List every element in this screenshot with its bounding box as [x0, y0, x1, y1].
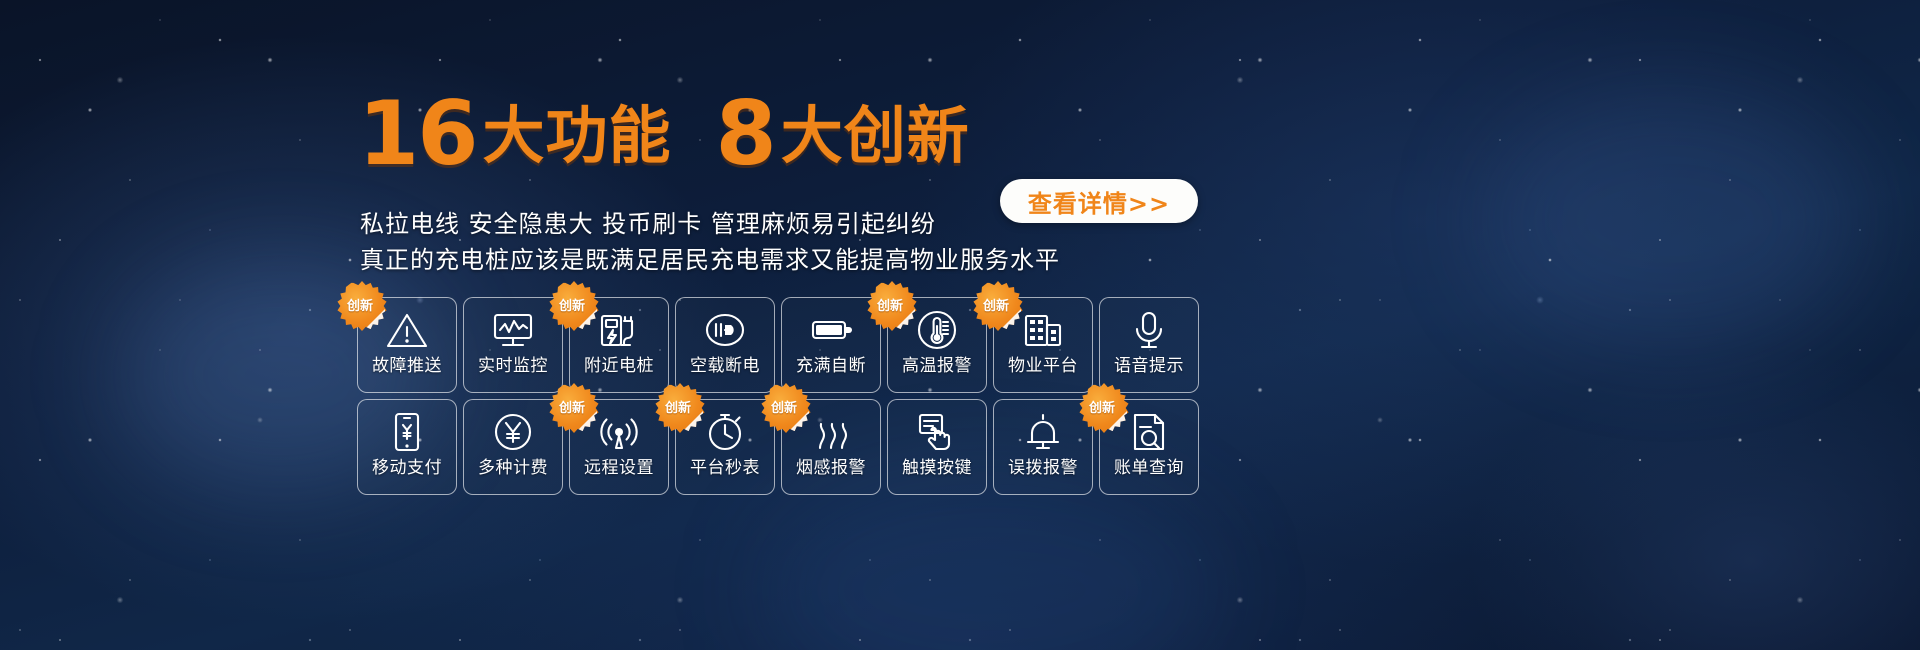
feature-card[interactable]: 移动支付 — [357, 399, 457, 495]
feature-card[interactable]: 触摸按键 — [887, 399, 987, 495]
feature-card-label: 移动支付 — [372, 458, 442, 478]
feature-card-label: 实时监控 — [478, 356, 548, 376]
subtitle-block: 私拉电线 安全隐患大 投币刷卡 管理麻烦易引起纠纷 真正的充电桩应该是既满足居民… — [360, 208, 1060, 280]
feature-card-label: 附近电桩 — [584, 356, 654, 376]
mobile-payment-icon — [384, 409, 430, 455]
innovation-badge-label: 创新 — [1089, 397, 1115, 416]
feature-card-label: 高温报警 — [902, 356, 972, 376]
innovation-badge-label: 创新 — [877, 295, 903, 314]
bill-search-icon — [1126, 409, 1172, 455]
charging-pile-icon — [596, 307, 642, 353]
innovation-badge-label: 创新 — [559, 295, 585, 314]
feature-card-label: 语音提示 — [1114, 356, 1184, 376]
feature-card-grid: 创新故障推送实时监控创新附近电桩空载断电充满自断创新高温报警创新物业平台语音提示… — [357, 297, 1199, 495]
thermometer-icon — [914, 307, 960, 353]
yuan-coin-icon — [490, 409, 536, 455]
feature-card[interactable]: 创新故障推送 — [357, 297, 457, 393]
feature-card[interactable]: 创新物业平台 — [993, 297, 1093, 393]
battery-full-icon — [808, 307, 854, 353]
innovation-badge: 创新 — [337, 281, 387, 331]
warning-triangle-icon — [384, 307, 430, 353]
feature-card-label: 平台秒表 — [690, 458, 760, 478]
headline-number-1: 16 — [358, 92, 476, 176]
nebula-glow-bottom — [760, 470, 1220, 650]
subtitle-line-1: 私拉电线 安全隐患大 投币刷卡 管理麻烦易引起纠纷 — [360, 208, 1060, 240]
microphone-icon — [1126, 307, 1172, 353]
building-icon — [1020, 307, 1066, 353]
feature-card[interactable]: 创新账单查询 — [1099, 399, 1199, 495]
feature-card[interactable]: 创新平台秒表 — [675, 399, 775, 495]
feature-card[interactable]: 创新烟感报警 — [781, 399, 881, 495]
stopwatch-icon — [702, 409, 748, 455]
feature-card[interactable]: 多种计费 — [463, 399, 563, 495]
nebula-glow-right — [1480, 90, 1860, 350]
headline-number-2: 8 — [715, 92, 774, 176]
headline-word-2: 大创新 — [781, 96, 970, 176]
smoke-detect-icon — [808, 409, 854, 455]
innovation-badge-label: 创新 — [771, 397, 797, 416]
feature-card[interactable]: 创新远程设置 — [569, 399, 669, 495]
innovation-badge-label: 创新 — [347, 295, 373, 314]
headline-word-1: 大功能 — [482, 96, 671, 176]
feature-card-label: 误拨报警 — [1008, 458, 1078, 478]
touch-hand-icon — [914, 409, 960, 455]
wireless-signal-icon — [596, 409, 642, 455]
alarm-bell-icon — [1020, 409, 1066, 455]
feature-card[interactable]: 语音提示 — [1099, 297, 1199, 393]
headline: 16 大功能 8 大创新 — [358, 92, 970, 176]
feature-card[interactable]: 空载断电 — [675, 297, 775, 393]
innovation-badge-label: 创新 — [665, 397, 691, 416]
feature-card-label: 账单查询 — [1114, 458, 1184, 478]
feature-card-label: 充满自断 — [796, 356, 866, 376]
feature-card[interactable]: 创新附近电桩 — [569, 297, 669, 393]
plug-disconnect-icon — [702, 307, 748, 353]
feature-card[interactable]: 实时监控 — [463, 297, 563, 393]
feature-card-label: 物业平台 — [1008, 356, 1078, 376]
feature-card[interactable]: 充满自断 — [781, 297, 881, 393]
feature-card-label: 故障推送 — [372, 356, 442, 376]
feature-card-label: 触摸按键 — [902, 458, 972, 478]
promo-banner: 16 大功能 8 大创新 查看详情>> 私拉电线 安全隐患大 投币刷卡 管理麻烦… — [0, 0, 1920, 650]
feature-card-label: 多种计费 — [478, 458, 548, 478]
innovation-badge-label: 创新 — [983, 295, 1009, 314]
subtitle-line-2: 真正的充电桩应该是既满足居民充电需求又能提高物业服务水平 — [360, 244, 1060, 276]
monitor-waveform-icon — [490, 307, 536, 353]
innovation-badge-label: 创新 — [559, 397, 585, 416]
feature-card[interactable]: 误拨报警 — [993, 399, 1093, 495]
feature-card-label: 远程设置 — [584, 458, 654, 478]
feature-card-label: 烟感报警 — [796, 458, 866, 478]
feature-card[interactable]: 创新高温报警 — [887, 297, 987, 393]
feature-card-label: 空载断电 — [690, 356, 760, 376]
